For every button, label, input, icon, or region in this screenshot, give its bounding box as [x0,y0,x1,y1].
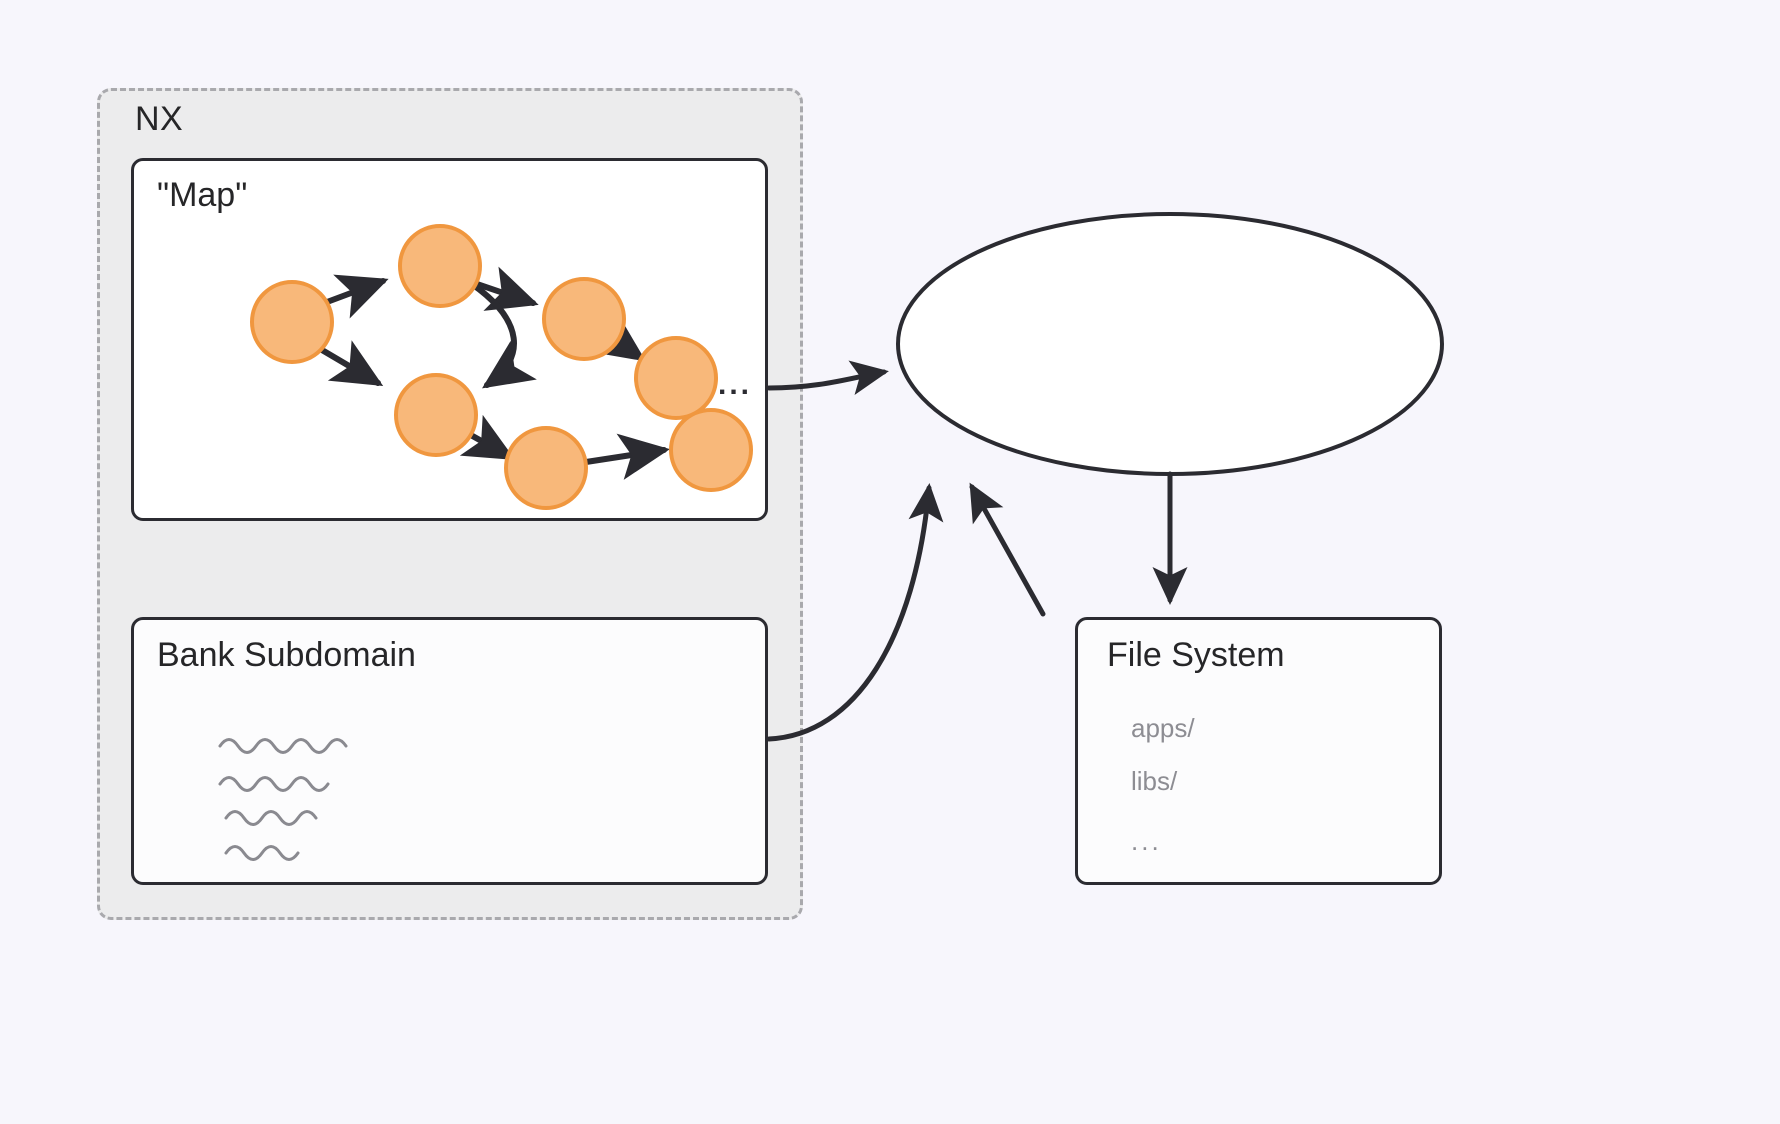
edge-n2-n4-curved [472,284,514,385]
edge-n3-n5 [615,340,641,358]
diagram-canvas: NX "Map" ... Bank Subdomain File System … [0,0,1780,1124]
graph-node[interactable] [636,338,716,418]
graph-node[interactable] [252,282,332,362]
graph-node[interactable] [544,279,624,359]
squiggle-line [226,812,316,825]
vector-layer [0,0,1780,1124]
edge-n1-n2 [327,281,383,302]
squiggle-line [226,847,298,860]
graph-node[interactable] [671,410,751,490]
edge-n4-n6 [469,434,510,457]
graph-node[interactable] [506,428,586,508]
edge-n1-n4 [322,350,378,383]
map-graph-nodes [252,226,751,508]
coding-assistant-ellipse[interactable] [898,214,1442,474]
connector-bank-to-assistant [769,488,929,739]
edge-n6-n7 [586,450,664,462]
graph-node[interactable] [400,226,480,306]
connector-map-to-assistant [769,372,884,388]
connector-filesystem-to-assistant [972,487,1043,614]
bank-subdomain-squiggles [220,740,346,860]
graph-node[interactable] [396,375,476,455]
squiggle-line [220,778,328,791]
squiggle-line [220,740,346,753]
